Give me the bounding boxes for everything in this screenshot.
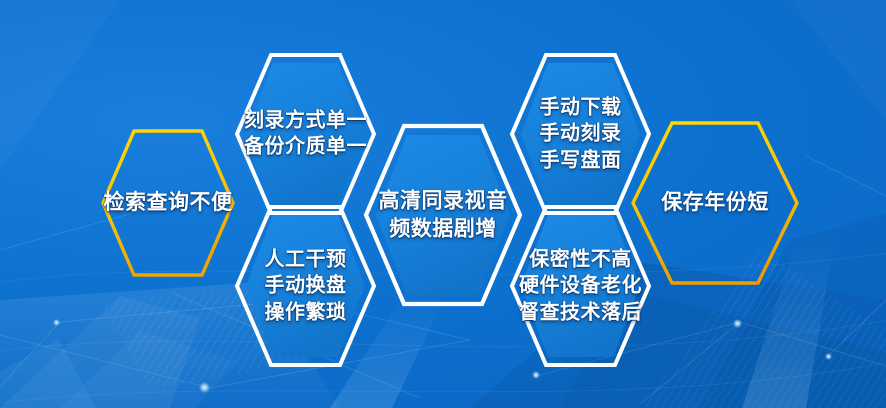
glow-dot-right [733, 319, 742, 328]
hexagon-shape-gold [630, 120, 800, 286]
glow-dot-right-small [825, 353, 832, 360]
hexagon-shape-filled [363, 123, 523, 307]
glow-dot-mid-low [532, 371, 540, 379]
hexagon-shape-filled [234, 52, 377, 216]
hex-node-burning-method-single[interactable]: 刻录方式单一 备份介质单一 [234, 52, 377, 216]
hex-node-manual-intervention[interactable]: 人工干预 手动换盘 操作繁琐 [234, 204, 377, 368]
hex-node-retrieval-inconvenient[interactable]: 检索查询不便 [100, 128, 236, 278]
glow-dot-upper-left [53, 319, 60, 326]
hex-node-hd-av-data-surge[interactable]: 高清同录视音 频数据剧增 [363, 123, 523, 307]
hexagon-shape-filled [234, 204, 377, 368]
glow-dot-left-low [199, 382, 210, 393]
infographic-canvas: 检索查询不便 刻录方式单一 备份介质单一 人工干预 [0, 0, 886, 408]
hexagon-shape-gold [100, 128, 236, 278]
hex-node-short-retention-years[interactable]: 保存年份短 [630, 120, 800, 286]
